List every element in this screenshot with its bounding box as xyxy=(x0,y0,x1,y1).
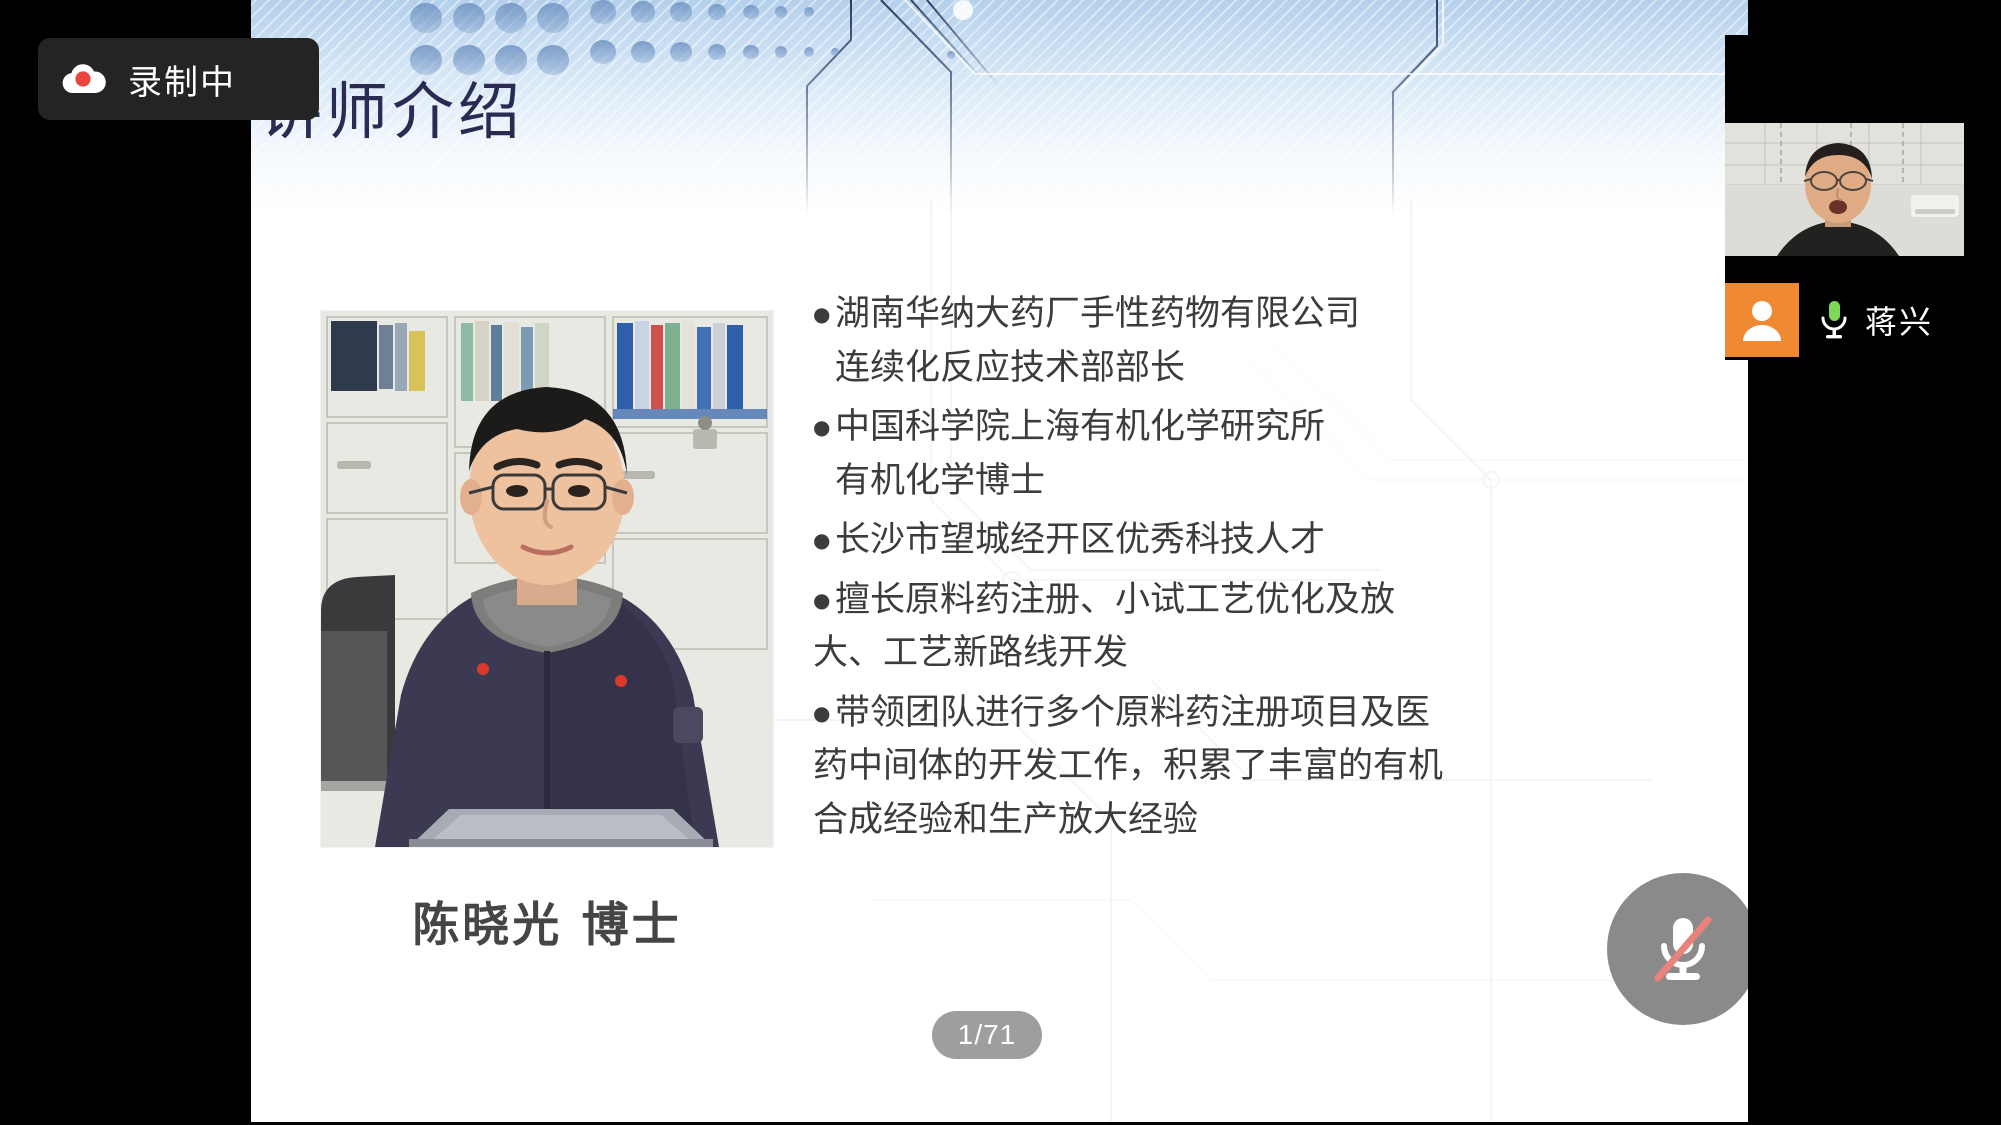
bullet-icon xyxy=(813,514,835,568)
avatar xyxy=(1725,283,1799,357)
recording-label: 录制中 xyxy=(128,55,236,104)
microphone-active-icon xyxy=(1817,298,1851,342)
bullet-icon xyxy=(813,574,835,628)
participant-name: 蒋兴 xyxy=(1865,297,1933,343)
bio-item: 湖南华纳大药厂手性药物有限公司 连续化反应技术部部长 xyxy=(813,288,1513,395)
participant-video-panel[interactable]: 蒋兴 xyxy=(1725,35,2001,360)
bio-item: 长沙市望城经开区优秀科技人才 xyxy=(813,514,1513,568)
recording-badge[interactable]: 录制中 xyxy=(38,38,319,120)
bio-item: 带领团队进行多个原料药注册项目及医 药中间体的开发工作，积累了丰富的有机 合成经… xyxy=(813,687,1513,848)
speaker-name: 陈晓光 博士 xyxy=(321,886,773,955)
presentation-slide[interactable]: 讲师介绍 xyxy=(251,0,1748,1122)
bullet-icon xyxy=(813,687,835,741)
bullet-icon xyxy=(813,401,835,455)
bullet-icon xyxy=(813,288,835,342)
speaker-photo xyxy=(321,311,773,847)
microphone-muted-icon xyxy=(1638,904,1728,994)
speaker-bio-list: 湖南华纳大药厂手性药物有限公司 连续化反应技术部部长 中国科学院上海有机化学研究… xyxy=(813,288,1513,853)
participant-video-feed xyxy=(1725,123,1964,256)
person-icon xyxy=(1739,297,1785,343)
cloud-record-icon xyxy=(60,62,106,96)
page-indicator: 1/71 xyxy=(932,1011,1042,1059)
participant-name-row: 蒋兴 xyxy=(1725,283,1933,357)
microphone-muted-button[interactable] xyxy=(1607,873,1748,1025)
bio-item: 擅长原料药注册、小试工艺优化及放 大、工艺新路线开发 xyxy=(813,574,1513,681)
meeting-screen: 讲师介绍 xyxy=(0,0,2001,1125)
bio-item: 中国科学院上海有机化学研究所 有机化学博士 xyxy=(813,401,1513,508)
